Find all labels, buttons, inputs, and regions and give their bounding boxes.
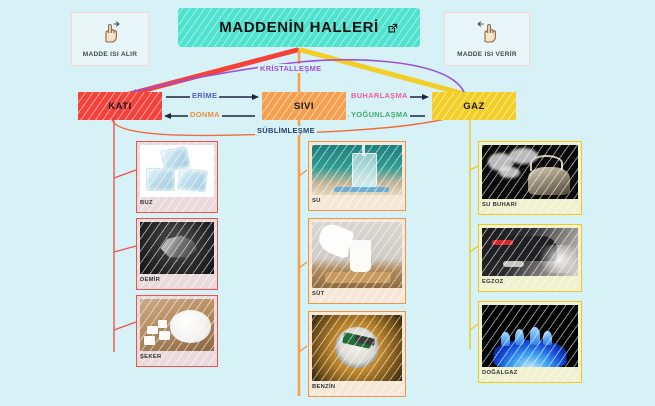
example-label-buz: BUZ [140,197,214,206]
example-card-seker[interactable]: ŞEKER [136,295,218,367]
example-card-egzoz[interactable]: EGZOZ [478,224,582,292]
example-thumb-seker [140,299,214,351]
state-label-solid: KATI [108,101,131,112]
example-card-buz[interactable]: BUZ [136,141,218,213]
example-thumb-benzin [312,315,402,381]
example-label-egzoz: EGZOZ [482,276,578,285]
donma-arrowhead [164,113,171,119]
liquid-branch-1 [299,170,307,176]
page-title: MADDENİN HALLERİ [219,19,379,36]
liquid-branch-2 [299,262,307,268]
transition-label-buharlasma: BUHARLAŞMA [349,91,410,100]
example-label-demir: DEMİR [140,274,214,283]
page-title-banner: MADDENİN HALLERİ [178,8,420,47]
example-label-su-buhari: SU BUHARI [482,199,578,208]
state-label-liquid: SIVI [294,101,314,112]
example-card-dogalgaz[interactable]: DOĞALGAZ [478,301,582,383]
transition-label-yogunlasma: YOĞUNLAŞMA [349,110,410,119]
heat-release-label: MADDE ISI VERİR [457,51,517,58]
state-box-gas[interactable]: GAZ [432,92,516,120]
external-link-icon[interactable] [387,21,398,39]
solid-branch-3 [114,322,136,330]
transition-label-erime: ERİME [190,91,219,100]
solid-branch-1 [114,170,136,178]
example-card-benzin[interactable]: BENZİN [308,311,406,397]
hand-pointer-right-arrow-icon [95,20,125,46]
liquid-branch-3 [299,346,307,352]
heat-absorb-label: MADDE ISI ALIR [83,51,138,58]
example-thumb-sut [312,222,402,288]
heat-absorb-note: MADDE ISI ALIR [71,12,149,66]
example-thumb-egzoz [482,228,578,276]
transition-label-kristallesme: KRİSTALLEŞME [258,64,323,73]
example-thumb-su [312,145,402,195]
example-card-su-buhari[interactable]: SU BUHARI [478,141,582,215]
example-card-demir[interactable]: DEMİR [136,218,218,290]
gas-branch-1 [470,166,478,170]
example-label-sut: SÜT [312,288,402,297]
solid-branch-2 [114,246,136,252]
example-label-benzin: BENZİN [312,381,402,390]
example-thumb-dogalgaz [482,305,578,367]
buharlasma-arrowhead [422,94,429,100]
diagram-canvas: MADDENİN HALLERİ MADDE ISI ALIR [0,0,655,406]
transition-label-donma: DONMA [188,110,222,119]
example-thumb-su-buhari [482,145,578,199]
example-thumb-buz [140,145,214,197]
erime-arrowhead [252,94,259,100]
state-box-liquid[interactable]: SIVI [262,92,346,120]
heat-release-note: MADDE ISI VERİR [444,12,530,66]
example-label-seker: ŞEKER [140,351,214,360]
hand-pointer-left-arrow-icon [472,20,502,46]
state-box-solid[interactable]: KATI [78,92,162,120]
example-thumb-demir [140,222,214,274]
state-label-gas: GAZ [463,101,485,112]
example-label-dogalgaz: DOĞALGAZ [482,367,578,376]
transition-label-sublimlesme: SÜBLİMLEŞME [255,126,317,135]
gas-branch-2 [470,246,478,252]
example-card-su[interactable]: SU [308,141,406,211]
example-label-su: SU [312,195,402,204]
example-card-sut[interactable]: SÜT [308,218,406,304]
gas-branch-3 [470,324,478,330]
